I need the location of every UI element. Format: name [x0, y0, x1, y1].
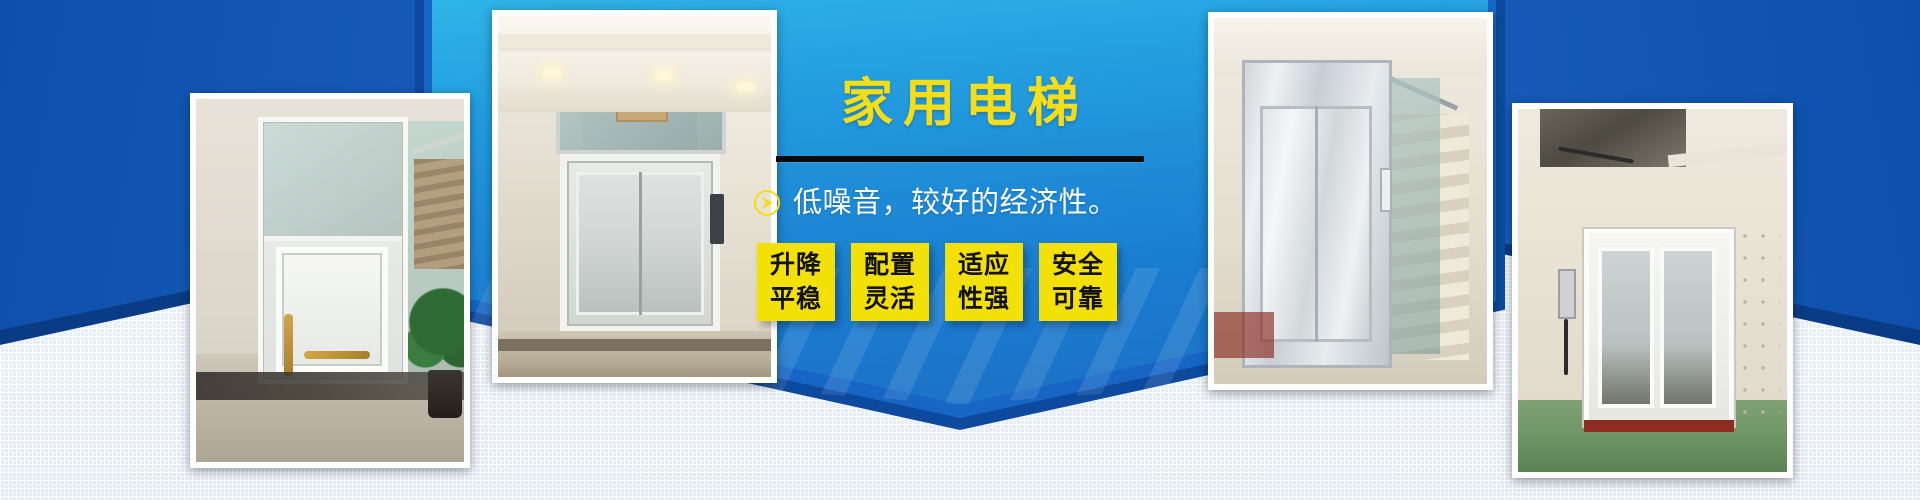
feature-tag-line2: 性强	[958, 282, 1010, 316]
circle-arrow-right-icon	[753, 189, 781, 217]
feature-tag-line2: 可靠	[1052, 282, 1104, 316]
photo-hall-elevator-glass-doors	[492, 10, 777, 383]
home-elevator-banner: 家用电梯 低噪音，较好的经济性。 升降 平稳 配置 灵活 适应 性强	[0, 0, 1920, 500]
feature-tag[interactable]: 安全 可靠	[1039, 243, 1117, 321]
feature-tag[interactable]: 升降 平稳	[757, 243, 835, 321]
feature-tag[interactable]: 适应 性强	[945, 243, 1023, 321]
feature-tag-line1: 安全	[1052, 248, 1104, 282]
feature-tag-list: 升降 平稳 配置 灵活 适应 性强 安全 可靠	[757, 243, 1175, 321]
photo-steel-villa-elevator	[1208, 12, 1493, 390]
feature-tag-line1: 升降	[770, 248, 822, 282]
feature-tag-line1: 配置	[864, 248, 916, 282]
feature-tag[interactable]: 配置 灵活	[851, 243, 929, 321]
tagline-text: 低噪音，较好的经济性。	[793, 188, 1118, 217]
tagline: 低噪音，较好的经济性。	[753, 188, 1175, 217]
title-divider-rule	[776, 156, 1144, 162]
feature-tag-line1: 适应	[958, 248, 1010, 282]
feature-tag-line2: 灵活	[864, 282, 916, 316]
page-title: 家用电梯	[745, 78, 1175, 130]
feature-tag-line2: 平稳	[770, 282, 822, 316]
banner-copy-block: 家用电梯 低噪音，较好的经济性。 升降 平稳 配置 灵活 适应 性强	[745, 78, 1175, 321]
photo-lift-in-bare-room	[1512, 103, 1793, 478]
photo-glass-shaft-elevator	[190, 93, 470, 468]
